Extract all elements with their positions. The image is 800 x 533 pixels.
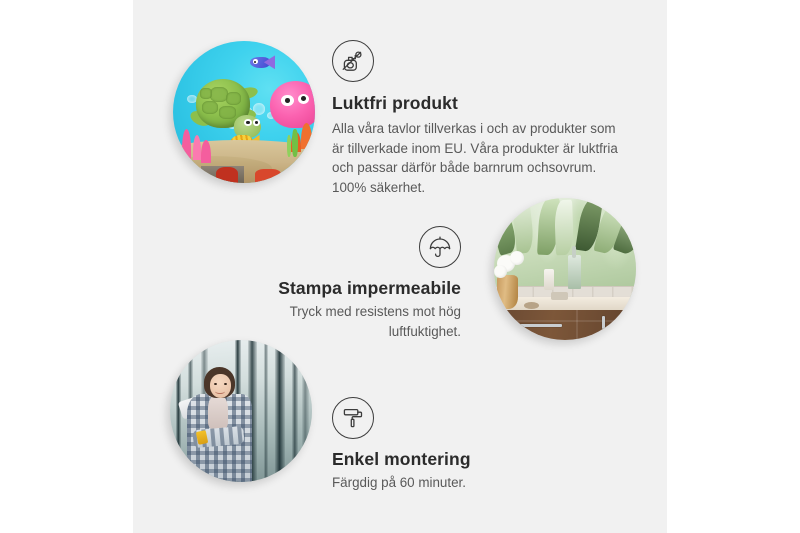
feature-title: Enkel montering [332, 449, 582, 470]
bathroom-scene [494, 198, 636, 340]
face [210, 374, 231, 398]
gold-vase [497, 275, 518, 309]
feature-title: Luktfri produkt [332, 93, 628, 114]
feature-body: Tryck med resistens mot hög luftfuktighe… [216, 302, 461, 341]
shell-plate [226, 92, 241, 106]
feature-title: Stampa impermeabile [216, 278, 461, 299]
wooden-vanity [503, 310, 636, 340]
vanity-seam [503, 320, 636, 322]
tree-trunk [302, 340, 309, 482]
image-ocean-mural [173, 41, 315, 183]
vanity-seam [576, 310, 578, 340]
door-handle [602, 316, 605, 330]
image-forest-installer [170, 340, 312, 482]
feature-waterproof: Stampa impermeabile Tryck med resistens … [216, 226, 461, 341]
soap-bottle [544, 269, 554, 290]
crab [216, 167, 239, 183]
paint-roller-icon [332, 397, 374, 439]
soap-dispenser [568, 255, 581, 289]
inner-shirt [208, 395, 228, 429]
feature-body: Alla våra tavlor tillverkas i och av pro… [332, 119, 628, 197]
feature-body: Färgdig på 60 minuter. [332, 473, 582, 493]
no-spray-bottle-icon [332, 40, 374, 82]
smile [215, 388, 225, 393]
feature-odorless: Luktfri produkt Alla våra tavlor tillver… [332, 40, 628, 197]
starfish [255, 169, 281, 183]
coral-branch [174, 143, 183, 164]
tree-trunk [264, 340, 268, 482]
forest-scene [170, 340, 312, 482]
white-flower [494, 265, 507, 278]
tree-trunk [292, 340, 298, 482]
feature-infographic: Luktfri produkt Alla våra tavlor tillver… [0, 0, 800, 533]
seaweed [292, 129, 298, 157]
faucet [551, 292, 568, 301]
drawer-handle [520, 324, 563, 327]
umbrella-icon [419, 226, 461, 268]
ocean-scene [173, 41, 315, 183]
dispenser-pump [572, 246, 576, 257]
soap-dish [524, 302, 540, 309]
white-flower [510, 251, 524, 265]
seaweed [287, 135, 291, 158]
shell-plate [202, 101, 218, 115]
shell-plate [200, 88, 212, 99]
feature-easy-mounting: Enkel montering Färgdig på 60 minuter. [332, 397, 582, 493]
eye [214, 383, 217, 385]
tree-trunk [275, 340, 285, 482]
image-bathroom-botanical [494, 198, 636, 340]
shell-plate [219, 106, 235, 119]
eye [224, 383, 227, 385]
